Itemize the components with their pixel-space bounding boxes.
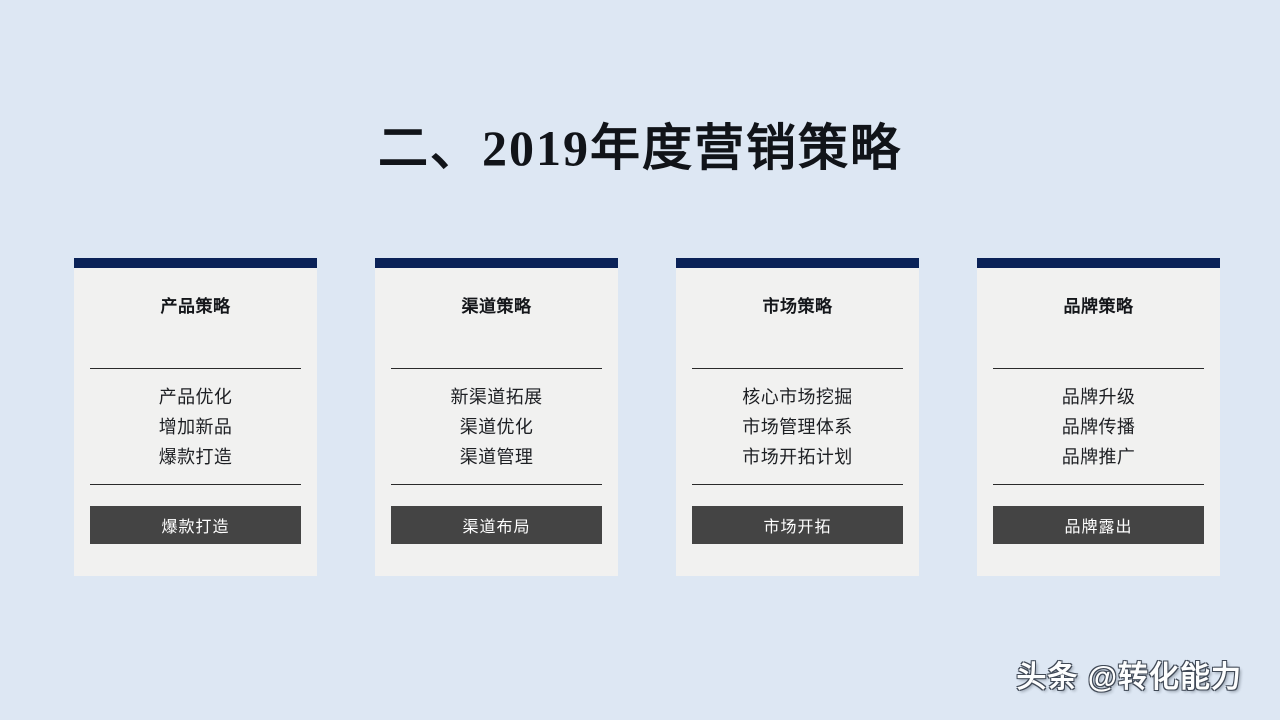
card-cta-button[interactable]: 爆款打造 [90,506,301,544]
strategy-card[interactable]: 市场策略 核心市场挖掘 市场管理体系 市场开拓计划 市场开拓 [676,258,919,576]
strategy-card-row: 产品策略 产品优化 增加新品 爆款打造 爆款打造 渠道策略 新渠道拓展 渠道优化 [74,258,1220,576]
card-title: 品牌策略 [993,296,1204,318]
card-divider-bottom [391,484,602,485]
card-accent-bar [977,258,1220,268]
card-accent-bar [676,258,919,268]
list-item: 品牌升级 [993,382,1204,412]
list-item: 市场管理体系 [692,412,903,442]
list-item: 渠道优化 [391,412,602,442]
list-item: 品牌传播 [993,412,1204,442]
card-body: 渠道策略 新渠道拓展 渠道优化 渠道管理 渠道布局 [375,268,618,576]
card-body: 品牌策略 品牌升级 品牌传播 品牌推广 品牌露出 [977,268,1220,576]
list-item: 新渠道拓展 [391,382,602,412]
card-cta-button[interactable]: 品牌露出 [993,506,1204,544]
card-divider-bottom [90,484,301,485]
strategy-card[interactable]: 渠道策略 新渠道拓展 渠道优化 渠道管理 渠道布局 [375,258,618,576]
card-cta-button[interactable]: 市场开拓 [692,506,903,544]
card-accent-bar [375,258,618,268]
list-item: 品牌推广 [993,442,1204,472]
list-item: 渠道管理 [391,442,602,472]
card-item-list: 核心市场挖掘 市场管理体系 市场开拓计划 [692,369,903,484]
card-body: 市场策略 核心市场挖掘 市场管理体系 市场开拓计划 市场开拓 [676,268,919,576]
card-accent-bar [74,258,317,268]
card-item-list: 品牌升级 品牌传播 品牌推广 [993,369,1204,484]
card-title: 渠道策略 [391,296,602,318]
strategy-card[interactable]: 产品策略 产品优化 增加新品 爆款打造 爆款打造 [74,258,317,576]
list-item: 增加新品 [90,412,301,442]
list-item: 核心市场挖掘 [692,382,903,412]
card-item-list: 产品优化 增加新品 爆款打造 [90,369,301,484]
list-item: 爆款打造 [90,442,301,472]
list-item: 市场开拓计划 [692,442,903,472]
slide-canvas: 二、2019年度营销策略 产品策略 产品优化 增加新品 爆款打造 爆款打造 渠道… [0,0,1280,720]
card-title: 市场策略 [692,296,903,318]
card-divider-bottom [993,484,1204,485]
page-title: 二、2019年度营销策略 [0,118,1280,178]
card-divider-bottom [692,484,903,485]
card-title: 产品策略 [90,296,301,318]
strategy-card[interactable]: 品牌策略 品牌升级 品牌传播 品牌推广 品牌露出 [977,258,1220,576]
card-item-list: 新渠道拓展 渠道优化 渠道管理 [391,369,602,484]
watermark: 头条 @转化能力 [1016,652,1242,696]
list-item: 产品优化 [90,382,301,412]
card-cta-button[interactable]: 渠道布局 [391,506,602,544]
card-body: 产品策略 产品优化 增加新品 爆款打造 爆款打造 [74,268,317,576]
